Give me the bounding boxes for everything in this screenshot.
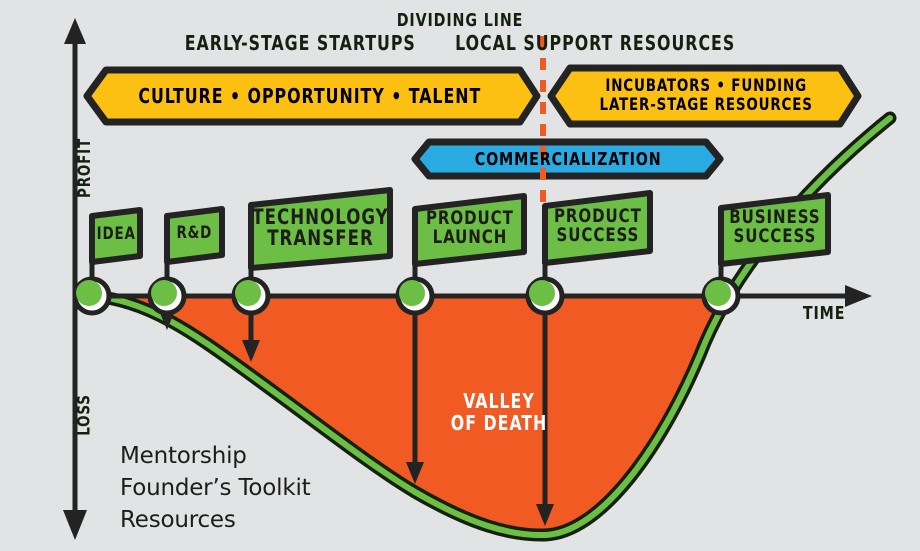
- flag-product-launch: [415, 196, 524, 264]
- valley-of-death-label: VALLEY OF DEATH: [424, 390, 574, 434]
- phase-label-right: LOCAL SUPPORT RESOURCES: [455, 31, 735, 55]
- flag-business-success: [721, 195, 828, 264]
- banner-commercialization: [415, 142, 720, 176]
- y-axis-label-profit: PROFIT: [74, 128, 96, 208]
- flag-product-success: [545, 193, 650, 263]
- node-business-success: [704, 279, 738, 313]
- dividing-line-title: DIVIDING LINE: [55, 10, 865, 31]
- dividing-line-header: DIVIDING LINE EARLY-STAGE STARTUPS LOCAL…: [0, 10, 920, 55]
- y-axis-label-loss: LOSS: [74, 380, 96, 450]
- x-axis-arrow-right: [845, 285, 872, 307]
- support-note-mentorship: Mentorship: [120, 440, 310, 472]
- phase-label-left: EARLY-STAGE STARTUPS: [185, 31, 416, 55]
- flag-tech-transfer: [251, 190, 390, 268]
- flag-idea: [92, 210, 140, 262]
- flag-rnd: [167, 209, 222, 262]
- phase-labels: EARLY-STAGE STARTUPS LOCAL SUPPORT RESOU…: [55, 31, 865, 55]
- banner-incubators-funding: [551, 68, 858, 124]
- node-product-success: [528, 279, 562, 313]
- milestone-flags: [92, 190, 828, 268]
- diagram-canvas: DIVIDING LINE EARLY-STAGE STARTUPS LOCAL…: [0, 0, 920, 551]
- banner-culture-opportunity-talent: [87, 70, 537, 122]
- support-note-toolkit: Founder’s Toolkit: [120, 472, 310, 504]
- support-note-resources: Resources: [120, 504, 310, 536]
- node-rnd: [150, 279, 184, 313]
- x-axis-label-time: TIME: [803, 303, 845, 324]
- node-tech-transfer: [234, 279, 268, 313]
- node-idea: [75, 279, 109, 313]
- y-axis-arrow-down: [63, 510, 87, 540]
- support-notes: Mentorship Founder’s Toolkit Resources: [120, 440, 310, 536]
- node-product-launch: [398, 279, 432, 313]
